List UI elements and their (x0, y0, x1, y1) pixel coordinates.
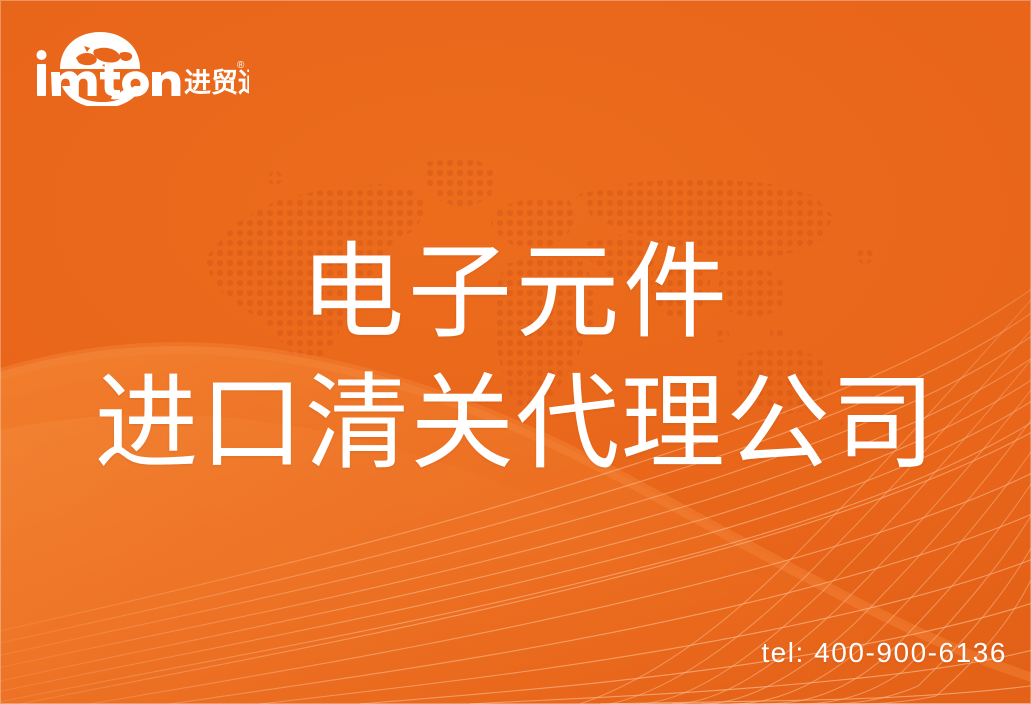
contact-phone[interactable]: tel: 400-900-6136 (761, 637, 1007, 669)
page-title: 电子元件 进口清关代理公司 (0, 232, 1031, 485)
imton-logo[interactable]: 进贸通 ® (34, 28, 249, 106)
promotional-banner: 进贸通 ® 电子元件 进口清关代理公司 tel: 400-900-6136 (0, 0, 1031, 704)
logo-chinese-name: 进贸通 (184, 68, 249, 99)
registered-trademark-icon: ® (237, 60, 245, 71)
headline-line-2: 进口清关代理公司 (0, 363, 1031, 486)
headline-line-1: 电子元件 (0, 232, 1031, 355)
